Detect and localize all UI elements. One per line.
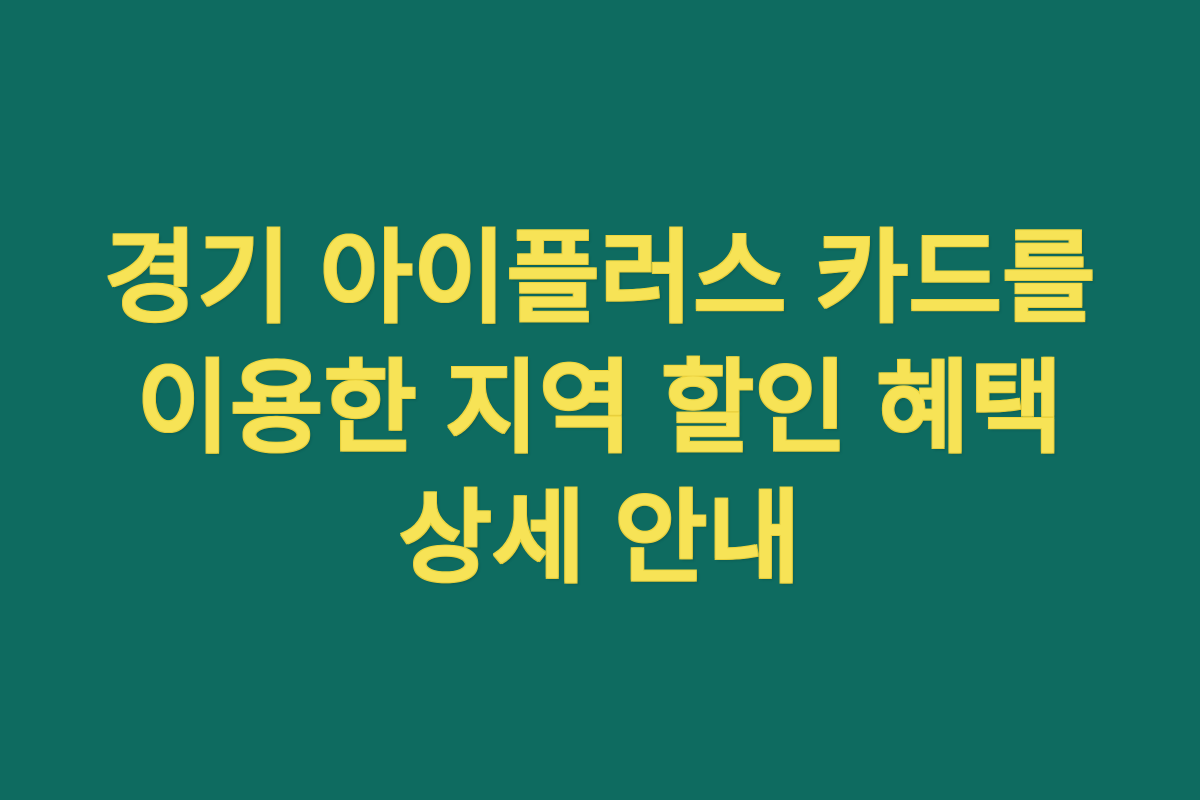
title-line-3: 상세 안내 (70, 474, 1130, 604)
title-line-2: 이용한 지역 할인 혜택 (70, 344, 1130, 474)
title-line-1: 경기 아이플러스 카드를 (70, 214, 1130, 344)
page-title: 경기 아이플러스 카드를 이용한 지역 할인 혜택 상세 안내 (70, 0, 1130, 604)
banner-image: 경기 아이플러스 카드를 이용한 지역 할인 혜택 상세 안내 (0, 0, 1200, 800)
